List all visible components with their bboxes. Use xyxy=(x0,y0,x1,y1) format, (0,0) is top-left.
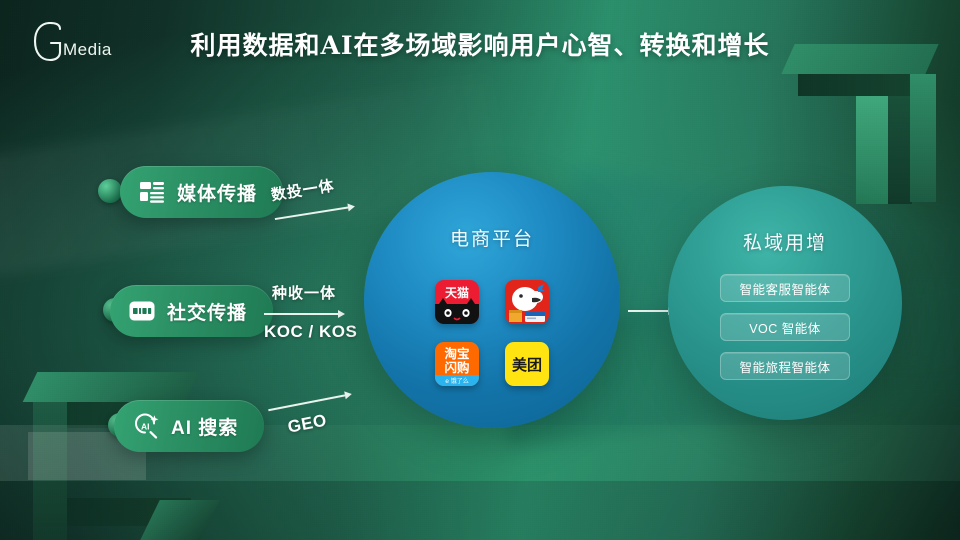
jd-app-icon[interactable] xyxy=(505,280,549,324)
connector-label-social-zh: 种收一体 xyxy=(264,282,344,303)
ai-search-sparkle-icon: AI xyxy=(132,412,160,440)
deco-bottom-left-edge xyxy=(33,402,67,540)
channel-bullet-media xyxy=(98,179,122,203)
svg-text:闪购: 闪购 xyxy=(444,360,469,375)
channel-pill-media[interactable]: 媒体传播 xyxy=(120,166,283,218)
channel-label-social: 社交传播 xyxy=(167,298,247,325)
deco-bottom-left-foot xyxy=(140,500,220,540)
agent-chip-label: VOC 智能体 xyxy=(749,318,821,337)
svg-text:天猫: 天猫 xyxy=(445,285,469,300)
ecommerce-sphere: 电商平台 天猫 xyxy=(364,172,620,428)
connector-label-media-zh: 数投一体 xyxy=(269,172,351,205)
ecommerce-title: 电商平台 xyxy=(364,224,620,251)
xiaohongshu-app-icon xyxy=(128,297,156,325)
deco-glass-band-lower xyxy=(0,481,960,540)
private-domain-agent-list: 智能客服智能体 VOC 智能体 智能旅程智能体 xyxy=(720,274,850,380)
connector-media: 数投一体 xyxy=(269,172,354,223)
deco-bottom-left-bottom xyxy=(67,498,191,526)
deco-top-right-shadow xyxy=(884,96,912,204)
slide-canvas: Media 利用数据和AI在多场域影响用户心智、转换和增长 媒体传播 xyxy=(0,0,960,540)
taobao-shangou-app-icon[interactable]: 淘宝 闪购 e 饿了么 xyxy=(435,342,479,386)
agent-chip-label: 智能客服智能体 xyxy=(739,279,830,298)
slide-header: Media 利用数据和AI在多场域影响用户心智、转换和增长 xyxy=(0,0,960,88)
meituan-app-icon[interactable]: 美团 xyxy=(505,342,549,386)
agent-chip-label: 智能旅程智能体 xyxy=(739,357,830,376)
connector-arrow-social xyxy=(264,308,344,318)
svg-text:e 饿了么: e 饿了么 xyxy=(445,377,469,385)
deco-top-right-edge xyxy=(910,74,936,202)
page-title: 利用数据和AI在多场域影响用户心智、转换和增长 xyxy=(0,26,960,62)
agent-chip-journey[interactable]: 智能旅程智能体 xyxy=(720,352,850,380)
svg-text:美团: 美团 xyxy=(512,356,542,374)
svg-text:淘宝: 淘宝 xyxy=(444,346,469,361)
tmall-app-icon[interactable]: 天猫 xyxy=(435,280,479,324)
channel-pill-aisearch[interactable]: AI AI 搜索 xyxy=(114,400,264,452)
channel-label-media: 媒体传播 xyxy=(177,179,257,206)
deco-bottom-left-cap xyxy=(23,372,200,402)
ecommerce-app-grid: 天猫 xyxy=(435,280,549,386)
media-layout-icon xyxy=(138,178,166,206)
connector-label-social-en: KOC / KOS xyxy=(264,322,344,342)
connector-aisearch: GEO xyxy=(267,388,357,440)
agent-chip-voc[interactable]: VOC 智能体 xyxy=(720,313,850,341)
channel-pill-social[interactable]: 社交传播 xyxy=(110,285,273,337)
svg-text:AI: AI xyxy=(141,422,150,432)
private-domain-title: 私域用增 xyxy=(668,228,902,255)
connector-social: 种收一体 KOC / KOS xyxy=(264,282,344,342)
connector-arrow-media xyxy=(274,201,355,223)
private-domain-sphere: 私域用增 智能客服智能体 VOC 智能体 智能旅程智能体 xyxy=(668,186,902,420)
deco-top-right-stem xyxy=(856,96,888,204)
agent-chip-customer-service[interactable]: 智能客服智能体 xyxy=(720,274,850,302)
channel-label-aisearch: AI 搜索 xyxy=(171,413,238,440)
